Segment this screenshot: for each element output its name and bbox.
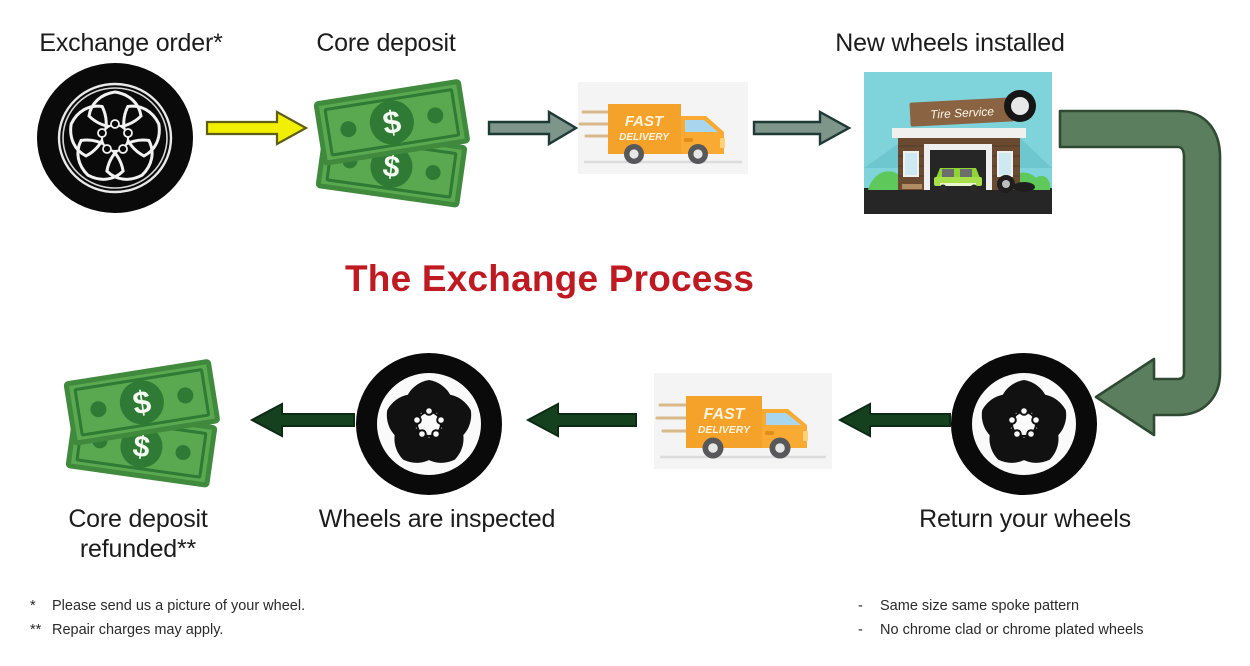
arrow-inspected-to-refund [248,400,356,440]
wheel-icon-black [36,62,194,214]
exchange-process-diagram: Exchange order* Core deposit New wheels … [0,0,1250,666]
money-icon-top: $ $ [306,68,482,208]
footnote-right-1: - Same size same spoke pattern [858,594,1144,618]
footnote-right-2-text: No chrome clad or chrome plated wheels [880,618,1144,642]
arrow-return-to-shipping [836,400,952,440]
arrow-exchange-to-deposit [205,108,310,148]
label-new-wheels-installed: New wheels installed [800,28,1100,58]
page-title: The Exchange Process [345,258,754,300]
footnotes-left: * Please send us a picture of your wheel… [30,594,305,642]
delivery-truck-icon-return: FAST DELIVERY [654,373,832,469]
arrow-deposit-to-shipping [487,108,579,148]
footnotes-right: - Same size same spoke pattern - No chro… [858,594,1144,642]
footnote-right-1-mark: - [858,594,880,618]
footnote-left-1-mark: * [30,594,52,618]
wheel-icon-inspected [355,352,503,496]
footnote-right-1-text: Same size same spoke pattern [880,594,1079,618]
label-wheels-are-inspected: Wheels are inspected [288,504,586,534]
svg-text:DELIVERY: DELIVERY [619,132,670,143]
label-core-deposit-refunded-line2: refunded** [18,534,258,564]
label-core-deposit-refunded-line1: Core deposit [18,504,258,534]
arrow-shipping-to-inspected [524,400,638,440]
label-return-your-wheels: Return your wheels [888,504,1162,534]
wheel-icon-return [950,352,1098,496]
money-icon-refund: $ $ [56,348,232,488]
label-core-deposit: Core deposit [270,28,502,58]
footnote-right-2: - No chrome clad or chrome plated wheels [858,618,1144,642]
footnote-left-1-text: Please send us a picture of your wheel. [52,594,305,618]
footnote-left-2-text: Repair charges may apply. [52,618,223,642]
svg-text:DELIVERY: DELIVERY [698,424,751,436]
footnote-left-2-mark: ** [30,618,52,642]
footnote-left-1: * Please send us a picture of your wheel… [30,594,305,618]
tire-service-garage-icon: Tire Service [864,72,1052,214]
svg-text:FAST: FAST [625,113,665,130]
delivery-truck-icon-outbound: FAST DELIVERY [578,82,748,174]
svg-text:FAST: FAST [704,406,746,423]
footnote-right-2-mark: - [858,618,880,642]
footnote-left-2: ** Repair charges may apply. [30,618,305,642]
label-exchange-order: Exchange order* [0,28,262,58]
arrow-shipping-to-install [752,108,852,148]
